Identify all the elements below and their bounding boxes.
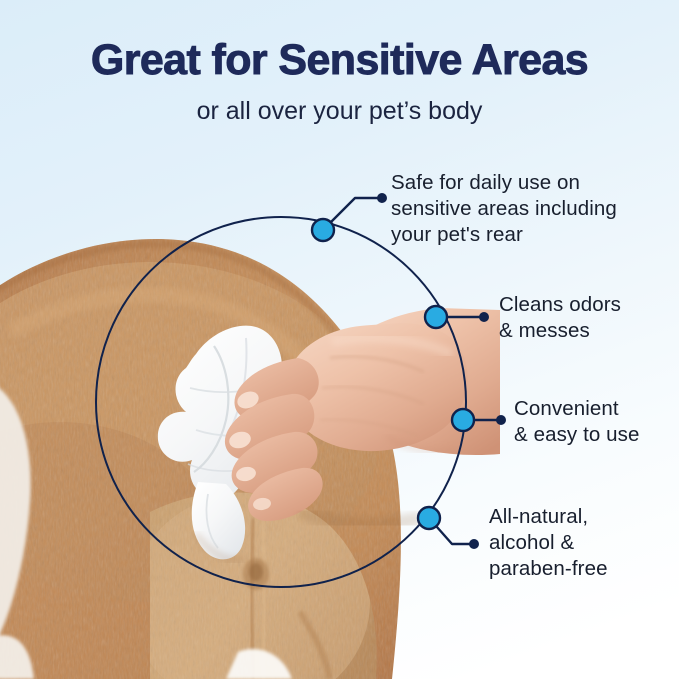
leader-end-dot — [479, 312, 489, 322]
callout-leader-all-natural — [418, 507, 479, 549]
ring-marker-safe-daily-use[interactable] — [312, 219, 334, 241]
callout-label-convenient-easy: Convenient & easy to use — [514, 396, 679, 448]
callout-label-all-natural: All-natural, alcohol & paraben-free — [489, 504, 679, 582]
leader-end-dot — [377, 193, 387, 203]
callout-leader-cleans-odors — [425, 306, 489, 328]
callout-leader-convenient-easy — [452, 409, 506, 431]
callout-leader-safe-daily-use — [312, 193, 387, 241]
highlight-ring — [96, 217, 466, 587]
callout-label-safe-daily-use: Safe for daily use on sensitive areas in… — [391, 170, 671, 248]
product-feature-infographic: Great for Sensitive Areas or all over yo… — [0, 0, 679, 679]
header: Great for Sensitive Areas or all over yo… — [0, 0, 679, 126]
ring-marker-cleans-odors[interactable] — [425, 306, 447, 328]
callout-label-cleans-odors: Cleans odors & messes — [499, 292, 679, 344]
page-subtitle: or all over your pet’s body — [0, 84, 679, 126]
leader-end-dot — [469, 539, 479, 549]
leader-end-dot — [496, 415, 506, 425]
ring-marker-all-natural[interactable] — [418, 507, 440, 529]
ring-marker-convenient-easy[interactable] — [452, 409, 474, 431]
page-title: Great for Sensitive Areas — [0, 0, 679, 84]
